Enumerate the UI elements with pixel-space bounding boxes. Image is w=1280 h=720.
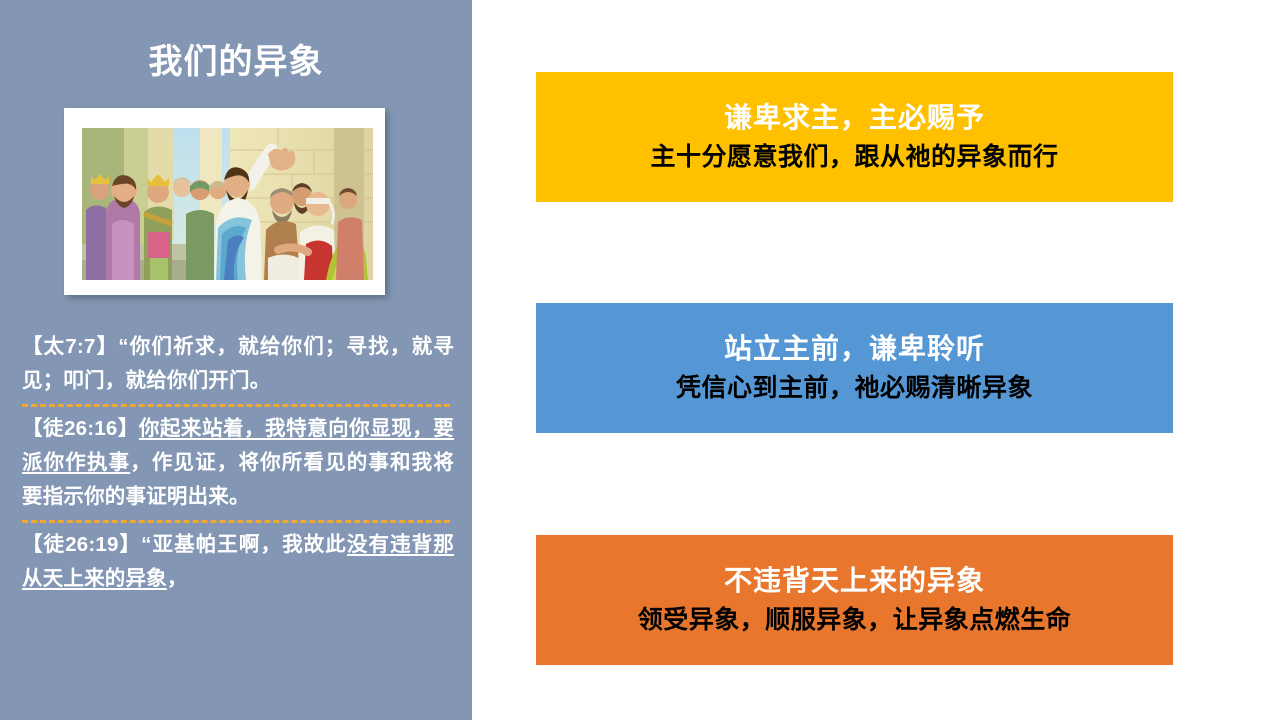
message-box-humble-ask: 谦卑求主，主必赐予 主十分愿意我们，跟从祂的异象而行 bbox=[536, 72, 1173, 202]
message-subtext: 主十分愿意我们，跟从祂的异象而行 bbox=[650, 138, 1058, 176]
message-box-obey-vision: 不违背天上来的异象 领受异象，顺服异象，让异象点燃生命 bbox=[536, 535, 1173, 665]
paul-preaching-illustration bbox=[82, 128, 373, 280]
verse-item: 【太7:7】“你们祈求，就给你们；寻找，就寻见；叩门，就给你们开门。 bbox=[0, 330, 472, 398]
verse-divider bbox=[22, 404, 450, 407]
verse-text-plain: “亚基帕王啊，我故此 bbox=[141, 533, 347, 556]
message-heading: 不违背天上来的异象 bbox=[724, 561, 985, 601]
verse-reference: 【徒26:19】 bbox=[22, 533, 141, 556]
scripture-block: 【太7:7】“你们祈求，就给你们；寻找，就寻见；叩门，就给你们开门。 【徒26:… bbox=[0, 330, 472, 596]
sidebar-panel: 我们的异象 bbox=[0, 0, 472, 720]
verse-text-plain: ， bbox=[167, 567, 188, 590]
verse-reference: 【徒26:16】 bbox=[22, 417, 139, 440]
message-subtext: 领受异象，顺服异象，让异象点燃生命 bbox=[638, 601, 1072, 639]
verse-item: 【徒26:16】你起来站着，我特意向你显现，要派你作执事，作见证，将你所看见的事… bbox=[0, 412, 472, 514]
verse-item: 【徒26:19】“亚基帕王啊，我故此没有违背那从天上来的异象， bbox=[0, 528, 472, 596]
verse-reference: 【太7:7】 bbox=[22, 335, 118, 358]
page-title: 我们的异象 bbox=[0, 40, 472, 84]
picture-frame bbox=[64, 108, 385, 295]
verse-divider bbox=[22, 520, 450, 523]
message-box-stand-listen: 站立主前，谦卑聆听 凭信心到主前，祂必赐清晰异象 bbox=[536, 303, 1173, 433]
message-heading: 谦卑求主，主必赐予 bbox=[724, 98, 985, 138]
message-subtext: 凭信心到主前，祂必赐清晰异象 bbox=[676, 369, 1033, 407]
message-heading: 站立主前，谦卑聆听 bbox=[724, 329, 985, 369]
